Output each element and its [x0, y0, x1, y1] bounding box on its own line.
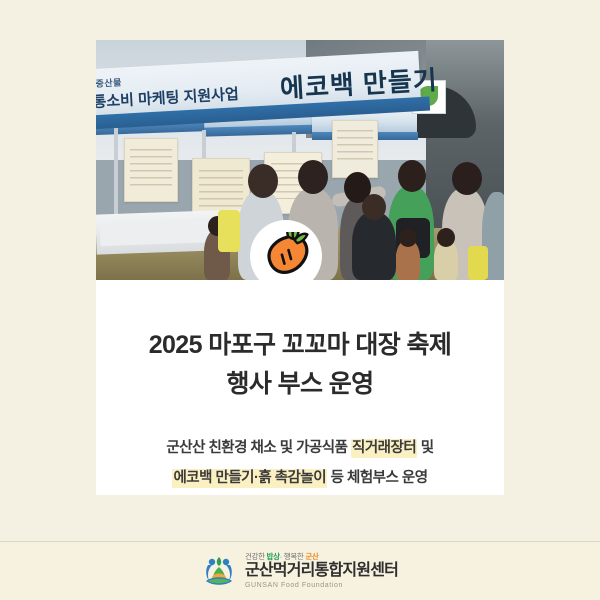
- body-line-1-highlight: 직거래장터: [351, 439, 417, 458]
- photo-booth-cloth-1: [124, 138, 178, 202]
- footer-org-name-kr: 군산먹거리통합지원센터: [245, 563, 398, 579]
- photo-volunteer-vest: [218, 210, 240, 252]
- photo-child-head: [399, 228, 417, 247]
- carrot-icon: [259, 232, 313, 280]
- footer-bar: 건강한 밥상· 행복한 군산 군산먹거리통합지원센터 GUNSAN Food F…: [0, 542, 600, 600]
- photo-booth-sign-right: [332, 120, 378, 178]
- photo-table-cloth: [100, 220, 221, 246]
- body-line-2-highlight: 에코백 만들기·흙 촉감놀이: [172, 469, 327, 488]
- photo-cloth-text-lines: [199, 170, 244, 211]
- carrot-badge: [250, 220, 322, 292]
- photo-person-head: [452, 162, 482, 195]
- photo-banner-main-text: 에코백 만들기: [279, 60, 439, 106]
- footer-tagline-part1: 건강한: [245, 552, 267, 561]
- footer-tagline-mid: · 행복한: [280, 552, 306, 561]
- photo-person-head: [398, 160, 426, 192]
- footer-logo-group[interactable]: 건강한 밥상· 행복한 군산 군산먹거리통합지원센터 GUNSAN Food F…: [202, 553, 398, 590]
- body-line-1-after: 및: [417, 440, 433, 456]
- title-block: 2025 마포구 꼬꼬마 대장 축제 행사 부스 운영: [96, 326, 504, 404]
- photo-person-head: [362, 194, 386, 220]
- photo-cloth-text-lines: [130, 149, 172, 186]
- footer-tagline-green: 밥상: [267, 552, 280, 561]
- footer-org-name-en: GUNSAN Food Foundation: [245, 582, 398, 589]
- photo-person-head: [248, 164, 278, 198]
- photo-child-head: [437, 228, 455, 247]
- footer-text-group: 건강한 밥상· 행복한 군산 군산먹거리통합지원센터 GUNSAN Food F…: [245, 553, 398, 590]
- gunsan-food-foundation-logo-icon: [202, 555, 236, 587]
- footer-tagline-orange: 군산: [305, 552, 318, 561]
- body-line-2-after: 등 체험부스 운영: [327, 470, 427, 486]
- page-title-line-1: 2025 마포구 꼬꼬마 대장 축제: [96, 326, 504, 365]
- photo-volunteer-vest: [468, 246, 488, 280]
- photo-person-head: [298, 160, 328, 194]
- page-title-line-2: 행사 부스 운영: [96, 365, 504, 404]
- photo-cloth-text-lines: [337, 130, 372, 164]
- body-line-1: 군산산 친환경 채소 및 가공식품 직거래장터 및: [96, 434, 504, 464]
- photo-person: [352, 212, 396, 280]
- body-line-2: 에코백 만들기·흙 촉감놀이 등 체험부스 운영: [96, 464, 504, 494]
- page-canvas: 중산물 통소비 마케팅 지원사업 에코백 만들기: [0, 0, 600, 600]
- body-line-1-before: 군산산 친환경 채소 및 가공식품: [166, 440, 351, 456]
- body-block: 군산산 친환경 채소 및 가공식품 직거래장터 및 에코백 만들기·흙 촉감놀이…: [96, 434, 504, 493]
- photo-banner-subtext-top: 중산물: [96, 75, 122, 89]
- footer-tagline: 건강한 밥상· 행복한 군산: [245, 553, 398, 561]
